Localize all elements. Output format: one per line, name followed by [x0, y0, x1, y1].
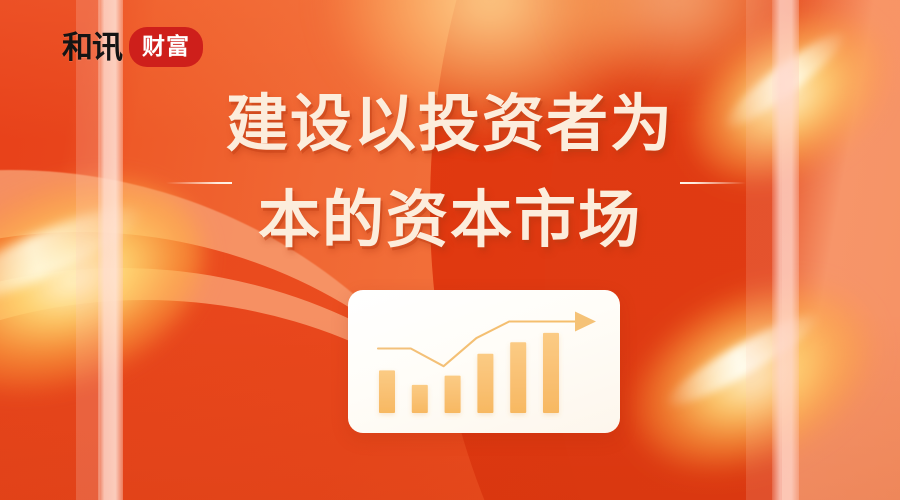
logo-badge: 财富	[129, 27, 203, 67]
headline-line-1: 建设以投资者为	[0, 94, 900, 156]
divider-rule-left	[166, 182, 232, 184]
chart-card	[348, 290, 620, 433]
brand-logo[interactable]: 和讯 财富	[62, 27, 203, 67]
chart-bar	[510, 342, 526, 413]
chart-bar	[543, 333, 559, 413]
logo-wordmark: 和讯	[62, 32, 122, 63]
chart-bar	[477, 354, 493, 413]
trend-arrow-icon	[575, 312, 596, 332]
divider-rule-right	[680, 182, 746, 184]
chart-bar	[412, 385, 428, 413]
promo-banner: 和讯 财富 建设以投资者为 本的资本市场	[0, 0, 900, 500]
headline-line-2: 本的资本市场	[0, 190, 900, 252]
headline-block: 建设以投资者为 本的资本市场	[0, 94, 900, 252]
chart-bar	[379, 370, 395, 413]
growth-bar-chart	[348, 290, 620, 433]
chart-bar	[445, 376, 461, 413]
